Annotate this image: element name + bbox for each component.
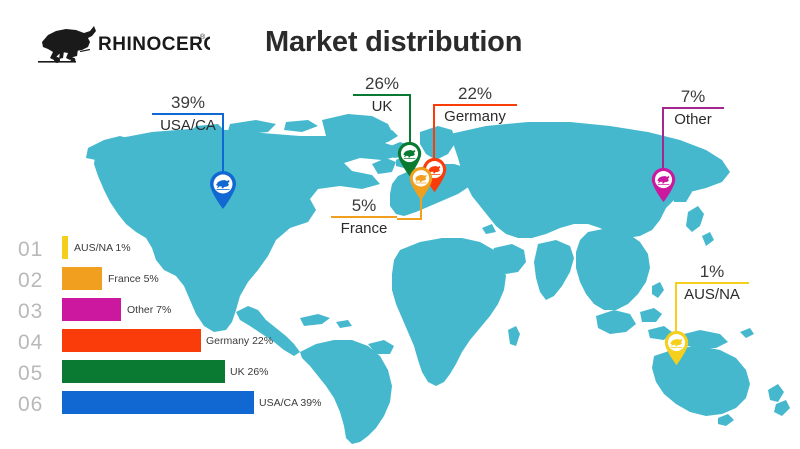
legend-bar-aus-na [62, 236, 68, 259]
legend-bar-other [62, 298, 121, 321]
callout-aus-na: 1% AUS/NA [675, 262, 749, 305]
legend-number: 04 [18, 331, 43, 355]
leader-line-uk [409, 96, 411, 146]
logo-wordmark: RHINOCEROS [98, 34, 210, 55]
callout-place-usa-ca: USA/CA [152, 115, 224, 136]
legend-row-germany[interactable]: 04 Germany 22% [18, 327, 288, 358]
legend-label-germany: Germany 22% [206, 335, 273, 347]
legend-number: 02 [18, 269, 43, 293]
legend-row-france[interactable]: 02 France 5% [18, 265, 288, 296]
legend-bar-usa-ca [62, 391, 254, 414]
infographic-canvas: RHINOCEROS ® Market distribution 01 AUS/… [0, 0, 800, 449]
legend-row-usa-ca[interactable]: 06 USA/CA 39% [18, 389, 288, 420]
leader-line-usa-ca [222, 115, 224, 177]
logo-registered-mark: ® [200, 33, 206, 41]
legend-number: 05 [18, 362, 43, 386]
legend-row-other[interactable]: 03 Other 7% [18, 296, 288, 327]
callout-percent-germany: 22% [433, 84, 517, 104]
callout-germany: 22% Germany [433, 84, 517, 127]
legend-bar-france [62, 267, 102, 290]
callout-place-france: France [331, 218, 397, 239]
map-pin-other[interactable] [650, 167, 677, 203]
callout-percent-france: 5% [331, 196, 397, 216]
leader-line-other [662, 109, 664, 172]
leader-line-germany [433, 106, 435, 162]
legend-row-aus-na[interactable]: 01 AUS/NA 1% [18, 234, 288, 265]
map-pin-france[interactable] [408, 166, 434, 201]
legend-label-france: France 5% [108, 273, 159, 285]
callout-other: 7% Other [662, 87, 724, 130]
callout-uk: 26% UK [353, 74, 411, 117]
map-pin-usa-ca[interactable] [208, 170, 238, 210]
callout-usa-ca: 39% USA/CA [152, 93, 224, 136]
callout-place-aus-na: AUS/NA [675, 284, 749, 305]
legend-label-usa-ca: USA/CA 39% [259, 397, 321, 409]
map-pin-aus-na[interactable] [663, 330, 690, 366]
legend-row-uk[interactable]: 05 UK 26% [18, 358, 288, 389]
leader-line-aus-na [675, 284, 677, 334]
legend-number: 01 [18, 238, 43, 262]
callout-place-germany: Germany [433, 106, 517, 127]
callout-percent-uk: 26% [353, 74, 411, 94]
callout-percent-aus-na: 1% [675, 262, 749, 282]
page-title: Market distribution [265, 26, 522, 59]
callout-france: 5% France [331, 196, 397, 239]
callout-percent-usa-ca: 39% [152, 93, 224, 113]
legend-bar-uk [62, 360, 225, 383]
leader-line-france-horizontal [397, 218, 422, 220]
legend-bar-germany [62, 329, 201, 352]
callout-place-other: Other [662, 109, 724, 130]
callout-percent-other: 7% [662, 87, 724, 107]
legend-label-aus-na: AUS/NA 1% [74, 242, 131, 254]
rhino-silhouette-icon [38, 26, 96, 63]
rhinoceros-logo: RHINOCEROS ® [30, 20, 210, 66]
legend-label-other: Other 7% [127, 304, 171, 316]
legend-label-uk: UK 26% [230, 366, 269, 378]
legend-number: 06 [18, 393, 43, 417]
callout-place-uk: UK [353, 96, 411, 117]
legend-bar-chart: 01 AUS/NA 1% 02 France 5% 03 Other 7% 04… [18, 234, 288, 420]
legend-number: 03 [18, 300, 43, 324]
